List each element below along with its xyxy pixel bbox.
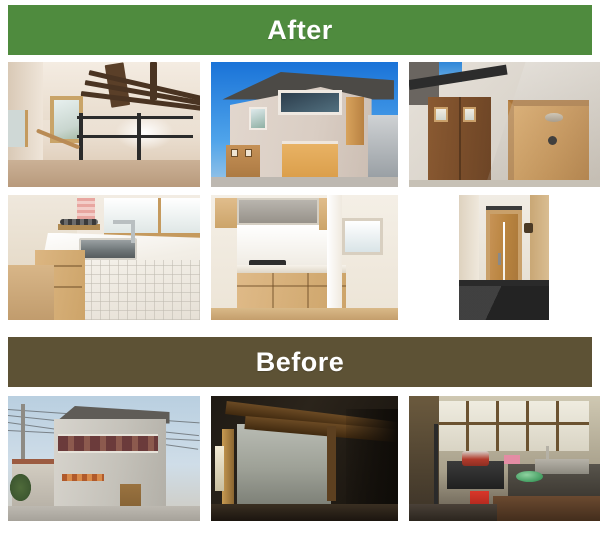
kitchen2-floor — [211, 308, 397, 321]
kitchen2-cabinet-divider-1 — [272, 273, 274, 311]
old-kitchen-pipe — [434, 424, 438, 507]
doors-brown-door — [428, 97, 491, 182]
loft-railing-top — [77, 116, 192, 119]
renovation-gallery-page: After — [0, 0, 600, 533]
entry-door-glass-strip — [503, 222, 506, 283]
kitchen2-range-hood — [237, 198, 319, 226]
old-kitchen-floor — [409, 504, 497, 522]
kitchen2-wall-pillar — [327, 195, 342, 320]
photo-image-old-house — [8, 396, 200, 521]
old-kitchen-window-bar-1 — [466, 401, 469, 451]
loft-railing-post-2 — [137, 113, 141, 163]
kitchen-window-mullion — [158, 198, 161, 233]
old-kitchen-window — [439, 401, 588, 451]
photo-before-gutted-interior[interactable] — [211, 396, 397, 521]
before-photo-row-1 — [0, 396, 600, 521]
photo-image-house-exterior — [211, 62, 397, 187]
loft-light-glow — [116, 115, 174, 150]
old-house-band-windows — [58, 434, 158, 453]
photo-before-house-exterior[interactable] — [8, 396, 200, 521]
photo-after-house-exterior[interactable] — [211, 62, 397, 187]
gutted-rubble-floor — [211, 504, 397, 522]
gutted-wall-panel — [237, 424, 330, 504]
entry-door-handle — [498, 253, 501, 265]
house-wood-panel — [346, 97, 365, 145]
kitchen-sink-basin — [79, 238, 137, 261]
doors-ground — [409, 180, 600, 188]
gutted-joist — [327, 426, 336, 501]
house-small-window — [249, 107, 268, 130]
kitchen2-cabinet-divider-2 — [307, 273, 309, 311]
old-house-awning — [62, 474, 104, 482]
old-kitchen-sponge — [504, 455, 519, 464]
old-kitchen-window-bar-4 — [556, 401, 559, 451]
house-large-window — [278, 90, 341, 115]
doors-brown-pane-right — [463, 107, 477, 121]
doors-diagonal-shadow — [480, 62, 600, 187]
old-house-tree — [10, 474, 31, 502]
old-kitchen-tap — [546, 446, 549, 460]
kitchen2-backsplash — [237, 225, 326, 265]
loft-floor — [8, 160, 200, 188]
photo-after-entrance-doors[interactable] — [409, 62, 600, 187]
photo-image-kitchen-hood — [211, 195, 397, 320]
old-house-road — [8, 506, 200, 521]
photo-image-entrance-doors — [409, 62, 600, 187]
old-kitchen-window-rail — [439, 422, 588, 425]
section-banner-after-label: After — [267, 15, 333, 46]
old-kitchen-pot — [462, 451, 489, 466]
old-kitchen-green-bowl — [516, 471, 543, 482]
loft-left-window — [8, 110, 28, 148]
kitchen-window — [104, 198, 200, 238]
old-kitchen-window-bar-3 — [526, 401, 529, 451]
photo-image-kitchen-sink — [8, 195, 200, 320]
photo-image-entry-hall — [459, 195, 549, 320]
kitchen2-window — [342, 218, 383, 256]
doors-brown-pane-left — [434, 107, 448, 121]
section-banner-before-label: Before — [256, 347, 345, 378]
house-side-door-window-left — [231, 149, 238, 157]
section-banner-before: Before — [8, 337, 592, 387]
photo-image-old-kitchen — [409, 396, 600, 521]
photo-after-loft-interior[interactable] — [8, 62, 200, 187]
loft-railing-post-1 — [79, 113, 83, 163]
after-photo-row-2 — [0, 195, 600, 320]
photo-image-loft-interior — [8, 62, 200, 187]
photo-after-entry-hall[interactable] — [409, 195, 600, 320]
old-kitchen-counter-front — [493, 496, 600, 521]
photo-after-kitchen-hood[interactable] — [211, 195, 397, 320]
photo-after-kitchen-sink[interactable] — [8, 195, 200, 320]
kitchen-floor — [8, 265, 54, 320]
photo-before-old-kitchen[interactable] — [409, 396, 600, 521]
kitchen-tile-pattern — [73, 260, 200, 320]
after-photo-row-1 — [0, 62, 600, 187]
house-ground — [211, 177, 397, 187]
old-kitchen-sink-basin — [535, 459, 589, 474]
entry-wall-hook — [524, 223, 533, 233]
house-side-door-window-right — [245, 149, 252, 157]
loft-railing-bottom — [77, 135, 192, 138]
kitchen-pots — [60, 219, 98, 225]
doors-brown-split — [459, 97, 461, 182]
entry-slate-floor — [459, 286, 549, 320]
section-banner-after: After — [8, 5, 592, 55]
photo-image-gutted-interior — [211, 396, 397, 521]
kitchen-faucet — [131, 220, 135, 243]
kitchen2-upper-cabinet-left — [215, 198, 237, 228]
photo-frame-entry-hall — [459, 195, 549, 320]
gutted-light-gap — [215, 446, 224, 491]
house-neighbour-building — [368, 115, 398, 178]
old-kitchen-window-bar-2 — [496, 401, 499, 451]
